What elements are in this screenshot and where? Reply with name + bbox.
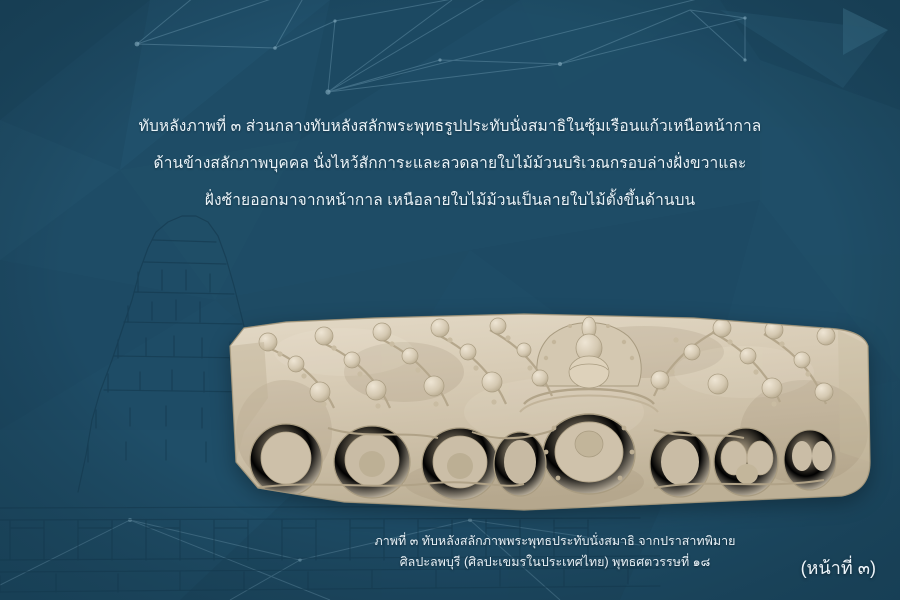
body-text-line-2: ด้านข้างสลักภาพบุคคล นั่งไหว้สักการะและล…	[0, 145, 900, 182]
body-text-line-1: ทับหลังภาพที่ ๓ ส่วนกลางทับหลังสลักพระพุ…	[0, 108, 900, 145]
figure-caption: ภาพที่ ๓ ทับหลังสลักภาพพระพุทธประทับนั่ง…	[330, 531, 780, 573]
body-text-line-3: ฝั่งซ้ายออกมาจากหน้ากาล เหนือลายใบไม้ม้ว…	[0, 182, 900, 219]
page-number: (หน้าที่ ๓)	[801, 553, 876, 582]
artifact-image	[224, 312, 876, 520]
body-text-block: ทับหลังภาพที่ ๓ ส่วนกลางทับหลังสลักพระพุ…	[0, 108, 900, 219]
slide-canvas: ทับหลังภาพที่ ๓ ส่วนกลางทับหลังสลักพระพุ…	[0, 0, 900, 600]
caption-line-2: ศิลปะลพบุรี (ศิลปะเขมรในประเทศไทย) พุทธศ…	[330, 552, 780, 573]
carved-lintel-illustration	[224, 312, 876, 520]
caption-line-1: ภาพที่ ๓ ทับหลังสลักภาพพระพุทธประทับนั่ง…	[330, 531, 780, 552]
